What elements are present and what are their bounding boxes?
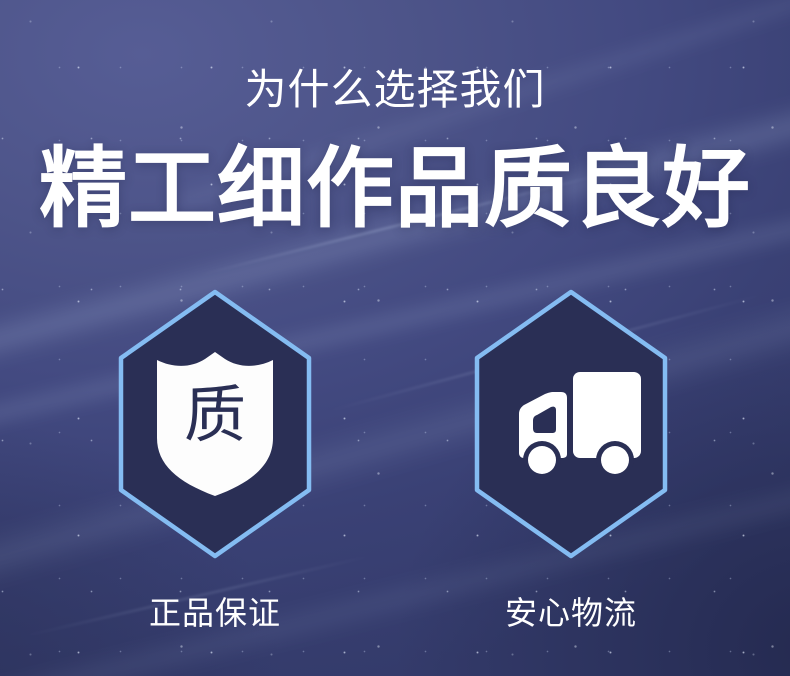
banner-headline: 精工细作品质良好: [0, 143, 790, 235]
delivery-truck-icon: [497, 368, 645, 480]
feature-quality-guarantee[interactable]: 质 正品保证: [105, 288, 325, 631]
promo-banner: 为什么选择我们 精工细作品质良好 质: [0, 0, 790, 676]
feature-caption-quality: 正品保证: [105, 596, 325, 631]
feature-logistics[interactable]: 安心物流: [461, 288, 681, 631]
hex-icon-slot-logistics: [468, 288, 674, 560]
banner-subtitle: 为什么选择我们: [0, 67, 790, 112]
hex-icon-slot-quality: 质: [112, 288, 318, 560]
banner-content: 为什么选择我们 精工细作品质良好 质: [0, 0, 790, 676]
feature-caption-logistics: 安心物流: [461, 596, 681, 631]
hex-badge-quality: 质: [112, 288, 318, 560]
shield-badge-character: 质: [153, 352, 277, 496]
feature-list: 质 正品保证: [0, 288, 790, 648]
hex-badge-logistics: [468, 288, 674, 560]
shield-quality-icon: 质: [153, 352, 277, 496]
